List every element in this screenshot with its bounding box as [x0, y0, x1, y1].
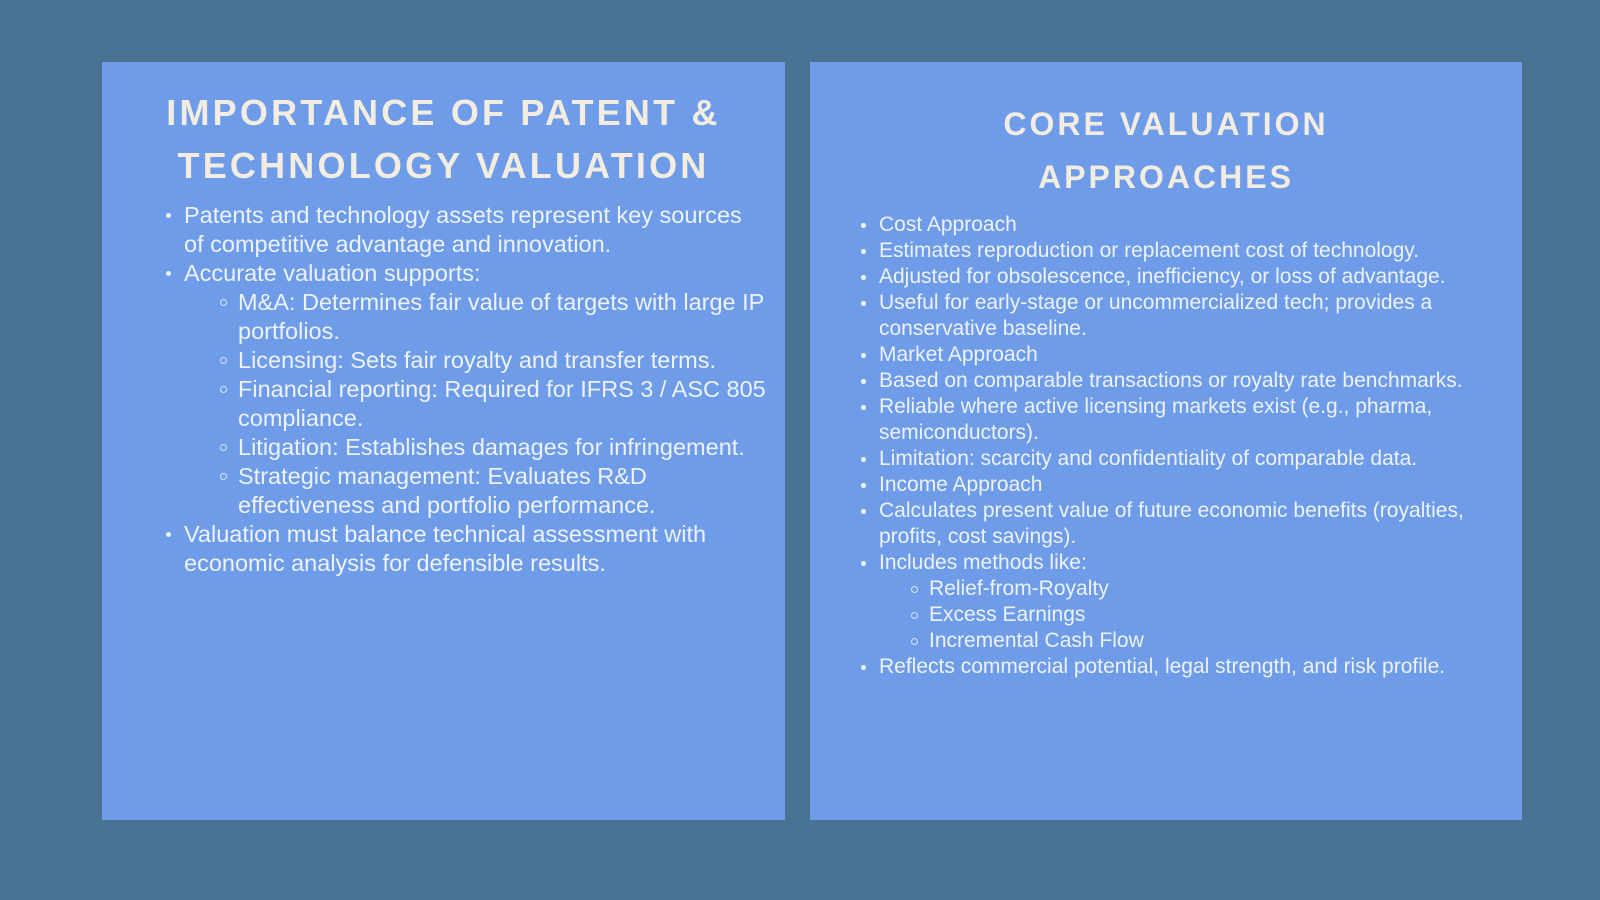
- list-item-text: Calculates present value of future econo…: [879, 498, 1500, 550]
- card-core-valuation-approaches: CORE VALUATION APPROACHES Cost ApproachE…: [810, 62, 1522, 820]
- sub-list-item-text: Licensing: Sets fair royalty and transfe…: [238, 346, 767, 375]
- card-left-title: IMPORTANCE OF PATENT & TECHNOLOGY VALUAT…: [120, 86, 767, 192]
- list-item-text: Accurate valuation supports:: [184, 259, 767, 288]
- sub-list-item: Financial reporting: Required for IFRS 3…: [220, 375, 767, 433]
- slide-canvas: IMPORTANCE OF PATENT & TECHNOLOGY VALUAT…: [0, 0, 1600, 900]
- sub-list-item: Strategic management: Evaluates R&D effe…: [220, 462, 767, 520]
- card-right-bullet-list: Cost ApproachEstimates reproduction or r…: [832, 212, 1500, 680]
- sub-list-item: Excess Earnings: [911, 602, 1500, 628]
- sub-list-item-text: Relief-from-Royalty: [929, 576, 1500, 602]
- list-item: Calculates present value of future econo…: [861, 498, 1500, 550]
- list-item: Estimates reproduction or replacement co…: [861, 238, 1500, 264]
- list-item-text: Estimates reproduction or replacement co…: [879, 238, 1500, 264]
- sub-list-item-text: Incremental Cash Flow: [929, 628, 1500, 654]
- sub-list-item: Relief-from-Royalty: [911, 576, 1500, 602]
- sub-list-item: Licensing: Sets fair royalty and transfe…: [220, 346, 767, 375]
- list-item: Adjusted for obsolescence, inefficiency,…: [861, 264, 1500, 290]
- list-item-text: Patents and technology assets represent …: [184, 201, 767, 259]
- sub-list: M&A: Determines fair value of targets wi…: [184, 288, 767, 520]
- list-item: Valuation must balance technical assessm…: [166, 520, 767, 578]
- list-item-text: Limitation: scarcity and confidentiality…: [879, 446, 1500, 472]
- sub-list-item: Litigation: Establishes damages for infr…: [220, 433, 767, 462]
- list-item: Reliable where active licensing markets …: [861, 394, 1500, 446]
- list-item-text: Useful for early-stage or uncommercializ…: [879, 290, 1500, 342]
- list-item-text: Based on comparable transactions or roya…: [879, 368, 1500, 394]
- list-item: Patents and technology assets represent …: [166, 201, 767, 259]
- list-item: Accurate valuation supports:M&A: Determi…: [166, 259, 767, 520]
- sub-list-item-text: Excess Earnings: [929, 602, 1500, 628]
- list-item: Based on comparable transactions or roya…: [861, 368, 1500, 394]
- list-item: Includes methods like:Relief-from-Royalt…: [861, 550, 1500, 654]
- list-item: Reflects commercial potential, legal str…: [861, 654, 1500, 680]
- list-item-text: Valuation must balance technical assessm…: [184, 520, 767, 578]
- sub-list: Relief-from-RoyaltyExcess EarningsIncrem…: [879, 576, 1500, 654]
- list-item-text: Cost Approach: [879, 212, 1500, 238]
- list-item: Limitation: scarcity and confidentiality…: [861, 446, 1500, 472]
- sub-list-item: M&A: Determines fair value of targets wi…: [220, 288, 767, 346]
- list-item: Useful for early-stage or uncommercializ…: [861, 290, 1500, 342]
- sub-list-item: Incremental Cash Flow: [911, 628, 1500, 654]
- sub-list-item-text: M&A: Determines fair value of targets wi…: [238, 288, 767, 346]
- card-left-bullet-list: Patents and technology assets represent …: [120, 201, 767, 578]
- list-item-text: Reflects commercial potential, legal str…: [879, 654, 1500, 680]
- list-item: Income Approach: [861, 472, 1500, 498]
- list-item-text: Market Approach: [879, 342, 1500, 368]
- sub-list-item-text: Strategic management: Evaluates R&D effe…: [238, 462, 767, 520]
- sub-list-item-text: Financial reporting: Required for IFRS 3…: [238, 375, 767, 433]
- card-importance-of-patent-and-technology-valuation: IMPORTANCE OF PATENT & TECHNOLOGY VALUAT…: [102, 62, 785, 820]
- sub-list-item-text: Litigation: Establishes damages for infr…: [238, 433, 767, 462]
- list-item-text: Includes methods like:: [879, 550, 1500, 576]
- list-item: Market Approach: [861, 342, 1500, 368]
- list-item-text: Income Approach: [879, 472, 1500, 498]
- list-item: Cost Approach: [861, 212, 1500, 238]
- card-right-title: CORE VALUATION APPROACHES: [832, 98, 1500, 204]
- list-item-text: Adjusted for obsolescence, inefficiency,…: [879, 264, 1500, 290]
- list-item-text: Reliable where active licensing markets …: [879, 394, 1500, 446]
